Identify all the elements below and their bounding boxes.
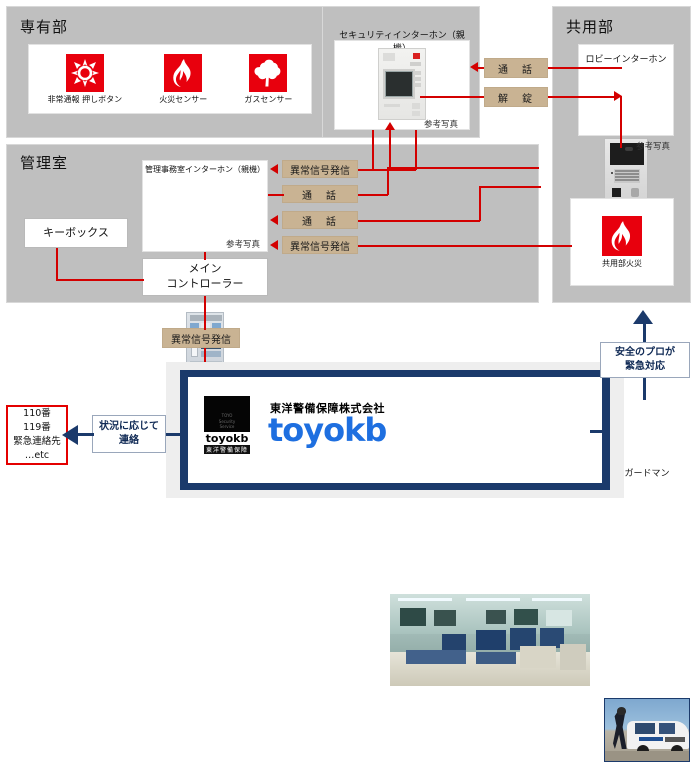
toyokb-badge-sub: 東洋警備保障 (204, 445, 250, 454)
arrow-guard-to-common (633, 310, 653, 324)
line-security-down-to-mgmt (372, 130, 374, 170)
toyokb-badge-text: toyokb (204, 433, 250, 444)
guard-label: ガードマン (604, 466, 690, 479)
line-mgmt-to-controller (204, 252, 206, 260)
common-fire-label: 共用部火災 (602, 259, 642, 269)
line-call-lower-right (358, 220, 480, 222)
situation-contact-label: 状況に応じて 連絡 (99, 420, 159, 448)
emergency-button-icon (66, 54, 104, 92)
line-contact-note-to-emergency (76, 433, 94, 436)
management-interphone-title: 管理事務室インターホン（親機） (138, 164, 272, 175)
sensor-emergency-button-label: 非常通報 押しボタン (48, 95, 123, 105)
line-call-upper-left (268, 194, 284, 196)
line-abnormal-top-up (415, 130, 417, 170)
arrow-abnormal-bottom (270, 240, 278, 250)
line-security-to-unlock-chip (420, 96, 484, 98)
emergency-contact-lines: 110番 119番 緊急連絡先 …etc (13, 407, 61, 462)
control-center-photo (390, 594, 590, 686)
management-interphone-ref-caption: 参考写真 (226, 238, 260, 250)
guard-response-label: 安全のプロが 緊急対応 (615, 346, 675, 374)
line-call-upper-up (387, 167, 389, 195)
line-call-chip-to-security (478, 67, 484, 69)
chip-abnormal-to-center: 異常信号発信 (162, 328, 240, 348)
line-keybox-down (56, 248, 58, 280)
guard-response-note: 安全のプロが 緊急対応 (600, 342, 690, 378)
chip-abnormal-bottom: 異常信号発信 (282, 236, 358, 254)
key-box-label: キーボックス (43, 226, 109, 241)
security-interphone-photo (378, 48, 426, 120)
chip-call-to-security: 通 話 (484, 58, 548, 78)
key-box[interactable]: キーボックス (24, 218, 128, 248)
arrow-call-to-security (470, 62, 478, 72)
lobby-interphone-title: ロビーインターホン (578, 52, 674, 65)
line-unlock-chip-to-lobby (548, 96, 614, 98)
chip-abnormal-top: 異常信号発信 (282, 160, 358, 178)
chip-abnormal-bottom-label: 異常信号発信 (290, 238, 350, 253)
chip-unlock-to-lobby: 解 錠 (484, 87, 548, 107)
sensor-emergency-button[interactable]: 非常通報 押しボタン (48, 54, 123, 105)
lobby-interphone-ref-caption: 参考写真 (636, 140, 670, 152)
sensor-gas[interactable]: ガスセンサー (244, 54, 292, 105)
line-sensors-to-security (389, 130, 391, 168)
line-controller-down (204, 296, 206, 330)
line-center-to-guard (590, 430, 606, 433)
zone-management-room-title: 管理室 (20, 152, 68, 173)
chip-call-to-security-label: 通 話 (498, 61, 534, 76)
line-call-upper-right (358, 194, 388, 196)
gas-sensor-icon (249, 54, 287, 92)
line-lobby-down (620, 96, 622, 148)
security-interphone-ref-caption: 参考写真 (424, 118, 458, 130)
chip-unlock-to-lobby-label: 解 錠 (498, 90, 534, 105)
line-note-to-common (643, 322, 646, 342)
line-guard-to-note (643, 378, 646, 400)
common-fire[interactable]: 共用部火災 (602, 216, 642, 269)
line-keybox-to-controller (56, 279, 144, 281)
sensor-gas-label: ガスセンサー (244, 95, 292, 105)
fire-sensor-icon (164, 54, 202, 92)
arrow-to-emergency-contact (62, 425, 78, 445)
fire-sensor-icon (602, 216, 642, 256)
arrow-abnormal-top (270, 164, 278, 174)
line-center-to-contact-note (166, 433, 188, 436)
chip-abnormal-top-label: 異常信号発信 (290, 162, 350, 177)
emergency-contact-box: 110番 119番 緊急連絡先 …etc (6, 405, 68, 465)
chip-abnormal-to-center-label: 異常信号発信 (171, 331, 231, 346)
zone-private-area-title: 専有部 (20, 16, 68, 37)
company-logo-text: toyokb (268, 414, 386, 446)
line-call-lower-up (479, 186, 481, 221)
sensor-card: 非常通報 押しボタン 火災センサー ガスセンサー (28, 44, 312, 114)
situation-contact-note: 状況に応じて 連絡 (92, 415, 166, 453)
line-call-lower-top (479, 186, 541, 188)
chip-call-upper: 通 話 (282, 185, 358, 203)
main-controller[interactable]: メイン コントローラー (142, 258, 268, 296)
line-abnormal-bottom-right (358, 245, 572, 247)
chip-call-lower: 通 話 (282, 211, 358, 229)
zone-common-area-title: 共用部 (566, 16, 614, 37)
common-fire-card: 共用部火災 (570, 198, 674, 286)
chip-call-upper-label: 通 話 (302, 187, 338, 202)
line-lobby-to-call-chip (548, 67, 622, 69)
arrow-call-lower (270, 215, 278, 225)
center-panel-inner (188, 377, 602, 483)
toyokb-badge: TOYOSecurityService toyokb 東洋警備保障 (204, 396, 250, 452)
sensor-fire-label: 火災センサー (159, 95, 207, 105)
sensor-fire[interactable]: 火災センサー (159, 54, 207, 105)
arrow-sensors-to-security (385, 122, 395, 130)
guard-photo (604, 698, 690, 762)
chip-call-lower-label: 通 話 (302, 213, 338, 228)
main-controller-label: メイン コントローラー (167, 262, 244, 292)
toyokb-badge-image: TOYOSecurityService (204, 396, 250, 432)
